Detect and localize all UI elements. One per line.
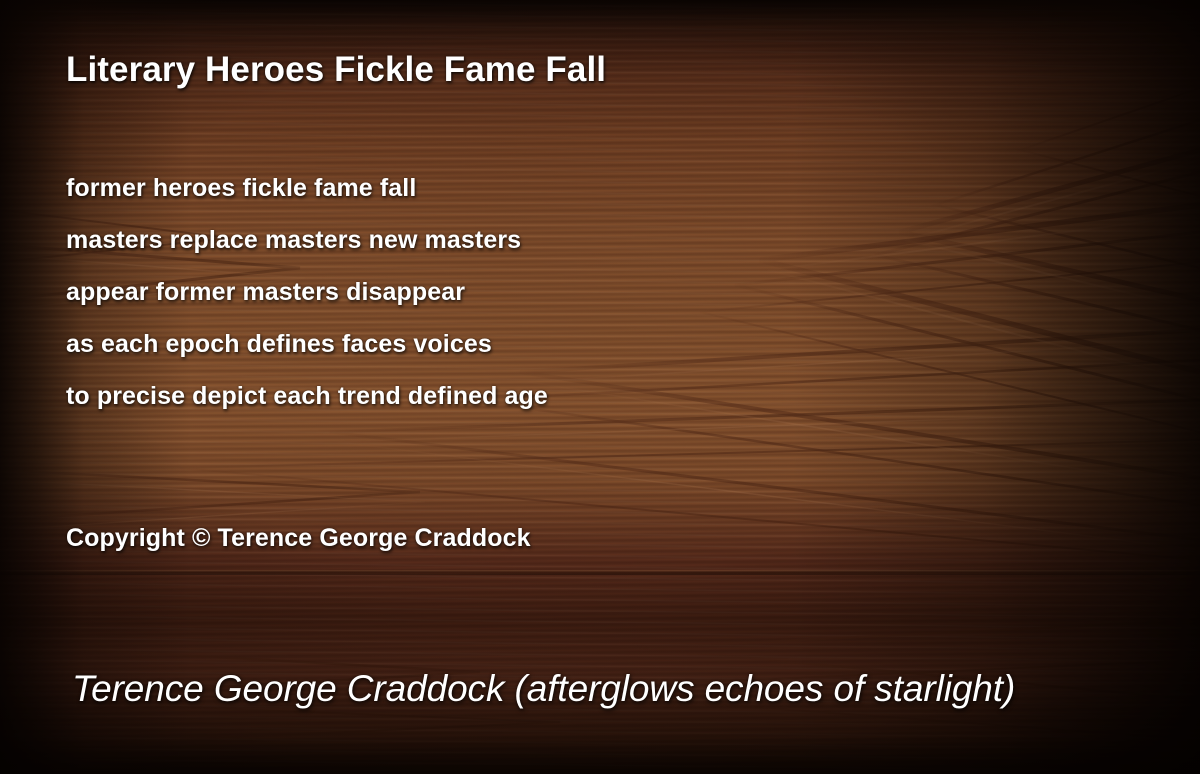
poem-line: to precise depict each trend defined age bbox=[66, 370, 548, 422]
poem-line: appear former masters disappear bbox=[66, 266, 548, 318]
copyright-notice: Copyright © Terence George Craddock bbox=[66, 524, 531, 553]
poem-line: as each epoch defines faces voices bbox=[66, 318, 548, 370]
poem-body: former heroes fickle fame fall masters r… bbox=[66, 162, 548, 422]
poem-line: former heroes fickle fame fall bbox=[66, 162, 548, 214]
poster-content: Literary Heroes Fickle Fame Fall former … bbox=[0, 0, 1200, 774]
author-attribution: Terence George Craddock (afterglows echo… bbox=[72, 668, 1015, 710]
poem-line: masters replace masters new masters bbox=[66, 214, 548, 266]
poem-poster: Literary Heroes Fickle Fame Fall former … bbox=[0, 0, 1200, 774]
page-title: Literary Heroes Fickle Fame Fall bbox=[66, 50, 606, 90]
